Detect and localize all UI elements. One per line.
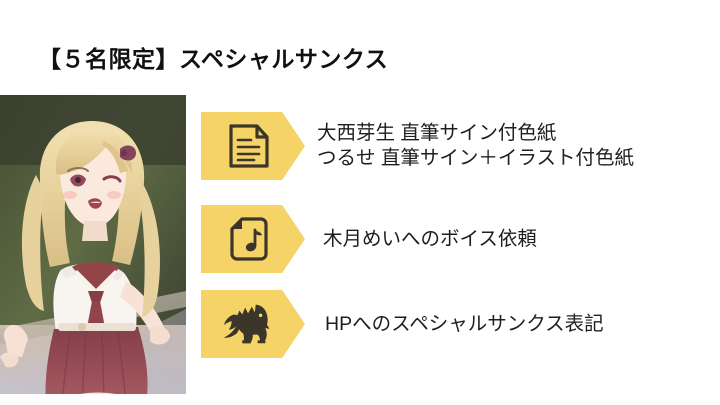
badge-shape-2: [201, 205, 305, 273]
list-item: 大西芽生 直筆サイン付色紙 つるせ 直筆サイン＋イラスト付色紙: [201, 112, 634, 180]
list-item-line: 木月めいへのボイス依頼: [323, 227, 537, 252]
list-item: 木月めいへのボイス依頼: [201, 205, 537, 273]
list-item-line: HPへのスペシャルサンクス表記: [325, 312, 604, 337]
badge-shape-1: [201, 112, 305, 180]
list-item-text: 大西芽生 直筆サイン付色紙 つるせ 直筆サイン＋イラスト付色紙: [317, 121, 634, 171]
illustration-artwork: [0, 95, 186, 394]
document-lines-icon: [223, 120, 275, 172]
list-item-line: 大西芽生 直筆サイン付色紙: [317, 121, 634, 146]
list-item-text: 木月めいへのボイス依頼: [323, 227, 537, 252]
list-item-text: HPへのスペシャルサンクス表記: [325, 312, 604, 337]
music-note-file-icon: [223, 213, 275, 265]
page-title: 【５名限定】スペシャルサンクス: [38, 40, 388, 74]
badge-shape-3: [201, 290, 305, 358]
list-item: HPへのスペシャルサンクス表記: [201, 290, 604, 358]
character-illustration: [0, 95, 186, 394]
dinosaur-icon: [223, 298, 275, 350]
list-item-line: つるせ 直筆サイン＋イラスト付色紙: [317, 146, 634, 171]
